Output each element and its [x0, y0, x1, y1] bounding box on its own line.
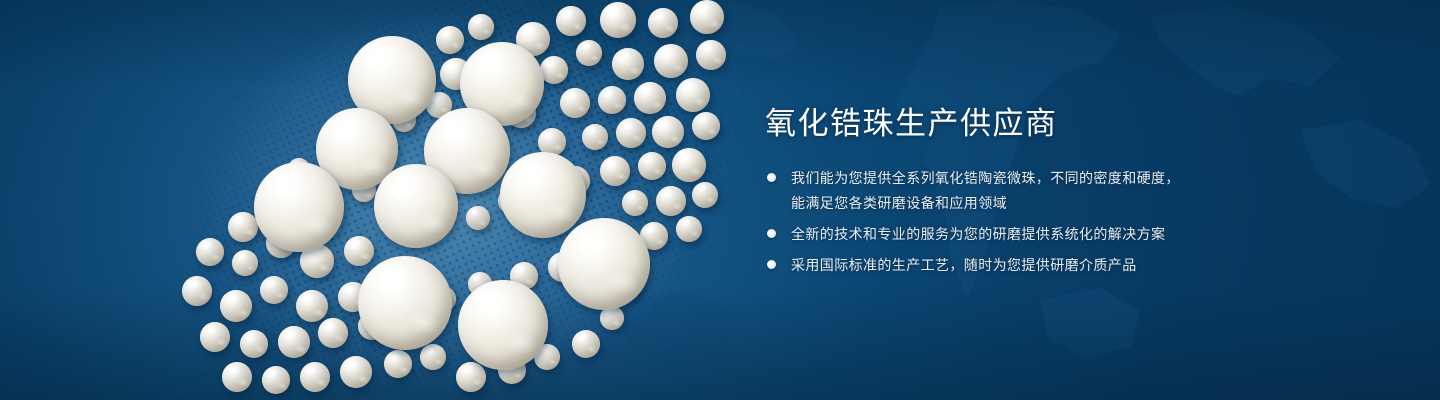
bead — [466, 206, 490, 230]
bead — [456, 362, 486, 392]
bead — [600, 156, 630, 186]
bead — [232, 250, 258, 276]
bead — [262, 366, 290, 394]
bead — [622, 190, 648, 216]
marketing-copy-panel: 氧化锆珠生产供应商 我们能为您提供全系列氧化锆陶瓷微珠，不同的密度和硬度， 能满… — [765, 104, 1365, 284]
bead — [560, 88, 590, 118]
bullet-dot-icon — [767, 260, 776, 269]
bead — [676, 78, 710, 112]
bead — [600, 2, 636, 38]
bead — [598, 86, 626, 114]
feature-line: 采用国际标准的生产工艺，随时为您提供研磨介质产品 — [791, 253, 1365, 278]
bullet-dot-icon — [767, 229, 776, 238]
bead — [656, 186, 686, 216]
feature-line: 我们能为您提供全系列氧化锆陶瓷微珠，不同的密度和硬度， — [791, 166, 1365, 191]
bead — [468, 14, 494, 40]
bead — [652, 116, 684, 148]
bead — [340, 356, 372, 388]
bead — [572, 330, 600, 358]
bead — [384, 350, 412, 378]
bead — [692, 182, 718, 208]
bead — [296, 290, 328, 322]
bead — [196, 238, 224, 266]
bead-large — [374, 164, 458, 248]
bead — [278, 326, 310, 358]
bead — [240, 330, 268, 358]
page-title: 氧化锆珠生产供应商 — [765, 104, 1365, 144]
list-item: 采用国际标准的生产工艺，随时为您提供研磨介质产品 — [765, 253, 1365, 278]
bead — [676, 216, 702, 242]
bead — [436, 26, 464, 54]
bead — [692, 112, 720, 140]
zirconia-bead-cluster-image — [0, 0, 740, 400]
bead — [654, 44, 688, 78]
bead — [616, 118, 646, 148]
hero-banner: 氧化锆珠生产供应商 我们能为您提供全系列氧化锆陶瓷微珠，不同的密度和硬度， 能满… — [0, 0, 1440, 400]
bead-large — [254, 162, 344, 252]
bead — [638, 152, 666, 180]
list-item: 全新的技术和专业的服务为您的研磨提供系统化的解决方案 — [765, 222, 1365, 247]
bead — [420, 344, 446, 370]
list-item: 我们能为您提供全系列氧化锆陶瓷微珠，不同的密度和硬度， 能满足您各类研磨设备和应… — [765, 166, 1365, 216]
bead — [344, 236, 374, 266]
bead — [648, 8, 678, 38]
bullet-dot-icon — [767, 173, 776, 182]
bead — [182, 276, 212, 306]
bead — [222, 362, 252, 392]
bead — [672, 148, 706, 182]
bead — [220, 290, 252, 322]
bead — [318, 318, 348, 348]
feature-line: 能满足您各类研磨设备和应用领域 — [791, 191, 1365, 216]
bead — [634, 82, 666, 114]
bead — [612, 48, 644, 80]
bead — [690, 0, 724, 34]
bead — [228, 212, 258, 242]
bead — [260, 276, 288, 304]
feature-list: 我们能为您提供全系列氧化锆陶瓷微珠，不同的密度和硬度， 能满足您各类研磨设备和应… — [765, 166, 1365, 278]
bead-large — [458, 280, 548, 370]
bead — [300, 362, 330, 392]
feature-line: 全新的技术和专业的服务为您的研磨提供系统化的解决方案 — [791, 222, 1365, 247]
bead-large — [358, 256, 452, 350]
bead — [582, 124, 608, 150]
bead — [200, 322, 230, 352]
bead — [576, 40, 602, 66]
bead-large — [558, 218, 650, 310]
bead — [540, 56, 568, 84]
bead-large — [500, 152, 586, 238]
bead — [556, 6, 586, 36]
bead — [696, 40, 726, 70]
